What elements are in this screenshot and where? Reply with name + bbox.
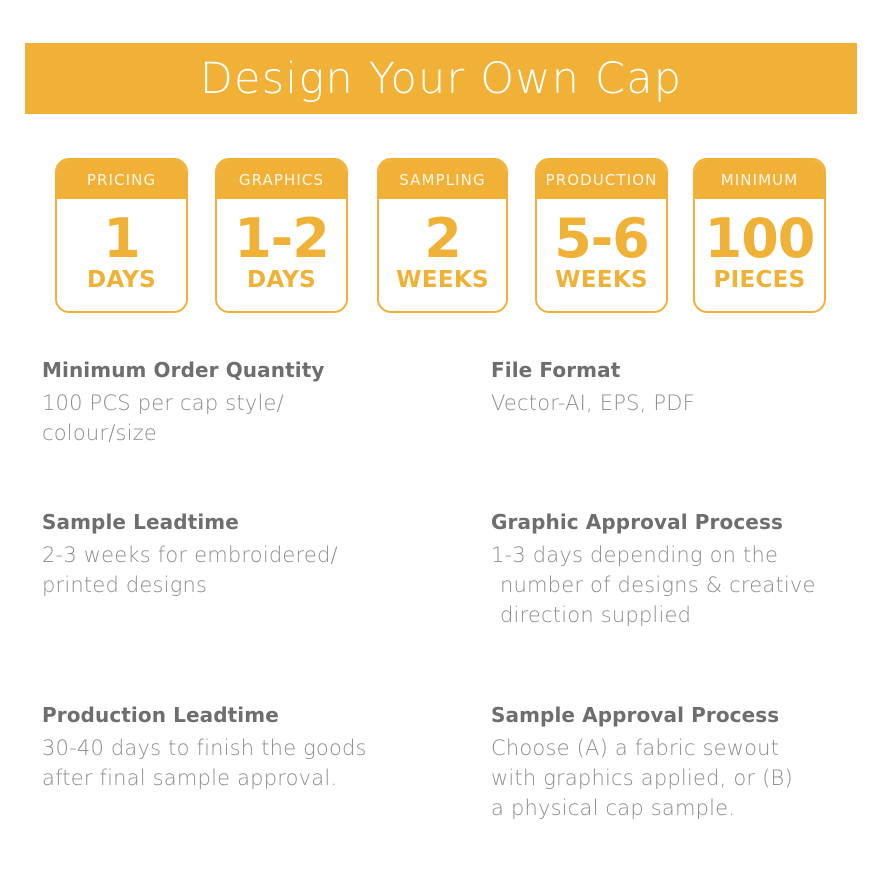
info-line: 1-3 days depending on the [491,540,876,570]
badge-body: 100PIECES [695,199,824,311]
badge-sampling: SAMPLING2WEEKS [377,158,508,313]
info-heading: Minimum Order Quantity [42,358,472,382]
info-block: File FormatVector-AI, EPS, PDF [491,358,876,418]
badge-label: SAMPLING [399,171,485,189]
badge-header: GRAPHICS [217,160,346,199]
info-line: Vector-AI, EPS, PDF [491,388,876,418]
badge-number: 1 [103,213,140,264]
page-title: Design Your Own Cap [200,54,683,104]
info-line: direction supplied [491,600,876,630]
badge-label: PRODUCTION [546,171,658,189]
badge-unit: DAYS [247,267,316,293]
info-heading: Production Leadtime [42,703,472,727]
info-heading: File Format [491,358,876,382]
badge-production: PRODUCTION5-6WEEKS [535,158,668,313]
badge-body: 1DAYS [57,199,186,311]
badge-graphics: GRAPHICS1-2DAYS [215,158,348,313]
badge-header: MINIMUM [695,160,824,199]
info-line: 2-3 weeks for embroidered/ [42,540,472,570]
badge-pricing: PRICING1DAYS [55,158,188,313]
info-line: with graphics applied, or (B) [491,763,876,793]
badge-unit: PIECES [713,267,805,293]
info-block: Sample Leadtime2-3 weeks for embroidered… [42,510,472,600]
info-block: Minimum Order Quantity100 PCS per cap st… [42,358,472,448]
badge-body: 2WEEKS [379,199,506,311]
info-line: 100 PCS per cap style/ [42,388,472,418]
badge-number: 5-6 [554,213,649,264]
info-line: Choose (A) a fabric sewout [491,733,876,763]
badge-header: SAMPLING [379,160,506,199]
info-block: Graphic Approval Process1-3 days dependi… [491,510,876,630]
info-line: number of designs & creative [491,570,876,600]
info-block: Production Leadtime30-40 days to finish … [42,703,472,793]
info-heading: Sample Approval Process [491,703,876,727]
badge-unit: WEEKS [396,267,489,293]
info-heading: Graphic Approval Process [491,510,876,534]
info-line: 30-40 days to finish the goods [42,733,472,763]
badge-number: 2 [424,213,461,264]
badge-minimum: MINIMUM100PIECES [693,158,826,313]
info-heading: Sample Leadtime [42,510,472,534]
info-line: printed designs [42,570,472,600]
badge-label: GRAPHICS [239,171,324,189]
badge-body: 5-6WEEKS [537,199,666,311]
badge-unit: WEEKS [555,267,648,293]
badge-body: 1-2DAYS [217,199,346,311]
badge-number: 100 [705,213,815,264]
info-block: Sample Approval ProcessChoose (A) a fabr… [491,703,876,823]
info-line: after final sample approval. [42,763,472,793]
badge-unit: DAYS [87,267,156,293]
badge-label: MINIMUM [721,171,799,189]
badge-number: 1-2 [234,213,329,264]
badge-header: PRODUCTION [537,160,666,199]
info-line: colour/size [42,418,472,448]
page-banner: Design Your Own Cap [25,43,857,114]
badge-label: PRICING [87,171,156,189]
info-line: a physical cap sample. [491,793,876,823]
badge-header: PRICING [57,160,186,199]
timeline-badge-row: PRICING1DAYSGRAPHICS1-2DAYSSAMPLING2WEEK… [0,158,884,318]
